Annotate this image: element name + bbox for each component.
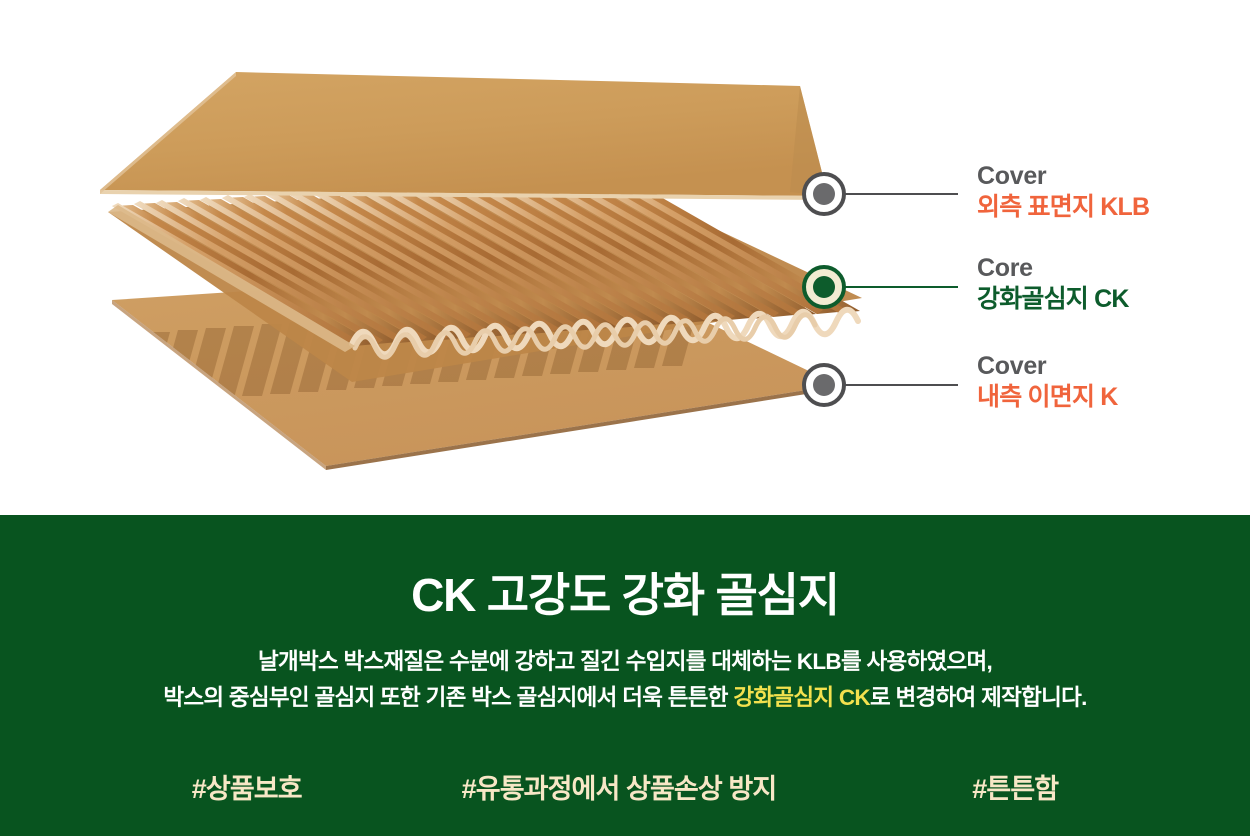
panel-body-line2: 박스의 중심부인 골심지 또한 기존 박스 골심지에서 더욱 튼튼한 강화골심지…: [0, 680, 1250, 716]
gray-marker-icon-bottom[interactable]: [804, 365, 844, 405]
callout-subtitle: 강화골심지 CK: [977, 285, 1129, 314]
page-root: Cover 외측 표면지 KLB Core 강화골심지 CK Cover 내측 …: [0, 0, 1250, 836]
callout-title: Core: [977, 255, 1129, 281]
panel-body-line2-b: 로 변경하여 제작합니다.: [870, 685, 1087, 710]
hashtag-item: #상품보호: [192, 767, 302, 806]
panel-body-line2-a: 박스의 중심부인 골심지 또한 기존 박스 골심지에서 더욱 튼튼한: [163, 685, 733, 710]
panel-hashtags: #상품보호 #유통과정에서 상품손상 방지 #튼튼함: [0, 767, 1250, 806]
callout-subtitle: 외측 표면지 KLB: [977, 193, 1149, 222]
green-marker-icon[interactable]: [804, 267, 844, 307]
callout-subtitle: 내측 이면지 K: [977, 383, 1118, 412]
corrugated-illustration: Cover 외측 표면지 KLB Core 강화골심지 CK Cover 내측 …: [0, 0, 1250, 515]
callout-cover-outer: Cover 외측 표면지 KLB: [977, 163, 1149, 222]
callout-cover-inner: Cover 내측 이면지 K: [977, 353, 1118, 412]
callout-title: Cover: [977, 163, 1149, 189]
callout-title: Cover: [977, 353, 1118, 379]
panel-body-highlight: 강화골심지 CK: [733, 685, 870, 710]
hashtag-item: #유통과정에서 상품손상 방지: [462, 767, 777, 806]
panel-title: CK 고강도 강화 골심지: [0, 559, 1250, 625]
panel-body: 날개박스 박스재질은 수분에 강하고 질긴 수입지를 대체하는 KLB를 사용하…: [0, 644, 1250, 717]
gray-marker-icon-top[interactable]: [804, 174, 844, 214]
top-liner-sheet: [100, 72, 828, 200]
green-info-panel: CK 고강도 강화 골심지 날개박스 박스재질은 수분에 강하고 질긴 수입지를…: [0, 515, 1250, 836]
callout-core: Core 강화골심지 CK: [977, 255, 1129, 314]
hashtag-item: #튼튼함: [972, 767, 1058, 806]
panel-body-line1: 날개박스 박스재질은 수분에 강하고 질긴 수입지를 대체하는 KLB를 사용하…: [0, 644, 1250, 680]
